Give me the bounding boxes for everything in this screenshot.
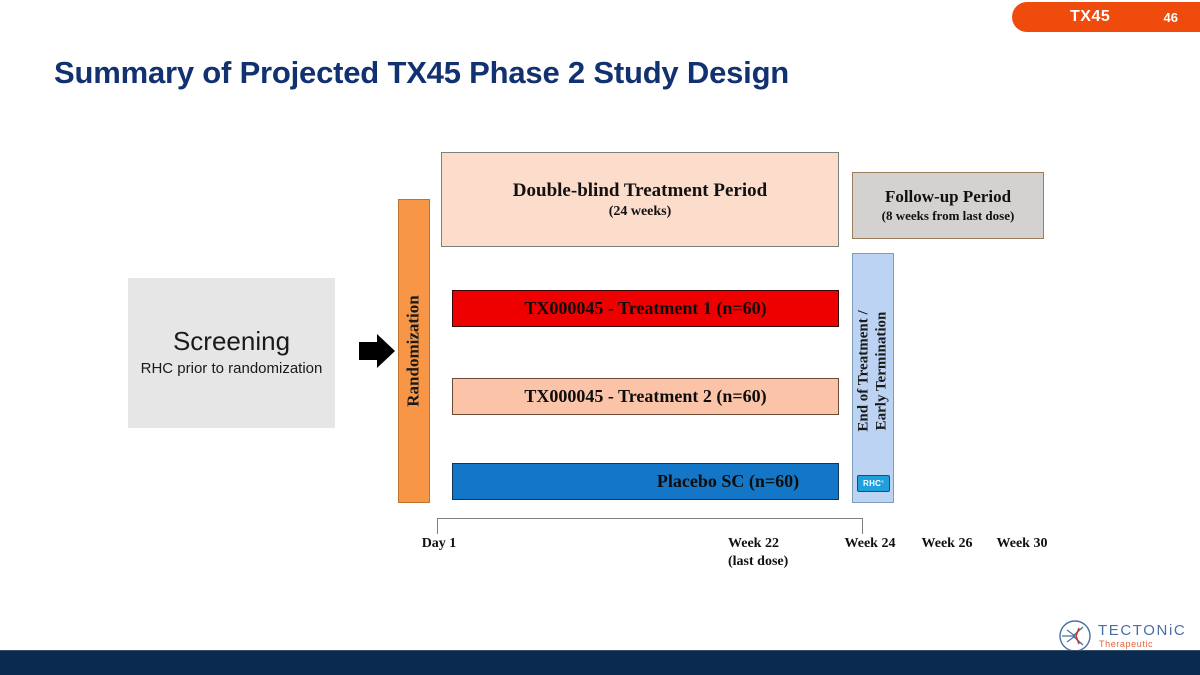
- screening-box: Screening RHC prior to randomization: [128, 278, 335, 428]
- end-of-treatment-line2: Early Termination: [873, 311, 889, 430]
- end-of-treatment-column: End of Treatment / Early Termination RHC…: [852, 253, 894, 503]
- randomization-label: Randomization: [404, 295, 424, 406]
- header-badge-label: TX45: [1070, 8, 1110, 26]
- timeline-label-week-30-text: Week 30: [997, 536, 1048, 551]
- tectonic-logo-icon: [1058, 619, 1092, 653]
- timeline-label-day-1-text: Day 1: [422, 536, 457, 551]
- logo-company-name: TECTONiC: [1098, 623, 1186, 638]
- randomization-bar: Randomization: [398, 199, 430, 503]
- timeline-label-day-1: Day 1: [404, 536, 474, 552]
- bracket-right-tick: [862, 518, 863, 534]
- slide-page-number: 46: [1164, 10, 1178, 25]
- treatment-arm-1-bar: TX000045 - Treatment 1 (n=60): [452, 290, 839, 327]
- logo-tagline: Therapeutic: [1099, 640, 1186, 649]
- footer-bar: [0, 651, 1200, 675]
- header-badge: TX45 46: [1012, 2, 1200, 32]
- bracket-left-tick: [437, 518, 438, 534]
- right-arrow-icon: [359, 334, 395, 368]
- timeline-label-week-22-sub: (last dose): [728, 554, 876, 570]
- placebo-arm-bar: Placebo SC (n=60): [452, 463, 839, 500]
- logo-text-block: TECTONiC Therapeutic: [1098, 623, 1186, 649]
- timeline-label-week-22-text: Week 22: [728, 536, 779, 551]
- page-title: Summary of Projected TX45 Phase 2 Study …: [54, 55, 789, 91]
- treatment-arm-2-bar: TX000045 - Treatment 2 (n=60): [452, 378, 839, 415]
- treatment-arm-1-label: TX000045 - Treatment 1 (n=60): [524, 298, 766, 319]
- followup-period-duration: (8 weeks from last dose): [882, 208, 1015, 224]
- treatment-period-title: Double-blind Treatment Period: [513, 180, 767, 202]
- followup-period-box: Follow-up Period (8 weeks from last dose…: [852, 172, 1044, 239]
- treatment-arm-2-label: TX000045 - Treatment 2 (n=60): [524, 386, 766, 407]
- bracket-top-line: [437, 518, 863, 519]
- timeline-label-week-26: Week 26: [907, 536, 987, 552]
- slide-canvas: TX45 46 Summary of Projected TX45 Phase …: [0, 0, 1200, 675]
- timeline-label-week-24: Week 24: [830, 536, 910, 552]
- timeline-label-week-24-text: Week 24: [845, 536, 896, 551]
- placebo-arm-label: Placebo SC (n=60): [657, 471, 799, 492]
- end-of-treatment-line1: End of Treatment /: [855, 310, 871, 431]
- rhc-badge: RHC°: [857, 475, 890, 492]
- treatment-period-duration: (24 weeks): [609, 204, 672, 220]
- screening-title: Screening: [173, 328, 290, 355]
- rhc-badge-superscript: °: [881, 481, 884, 487]
- company-logo: TECTONiC Therapeutic: [1058, 618, 1188, 654]
- timeline-label-week-30: Week 30: [982, 536, 1062, 552]
- followup-period-title: Follow-up Period: [885, 187, 1011, 207]
- screening-subtitle: RHC prior to randomization: [141, 359, 323, 378]
- timeline-label-week-26-text: Week 26: [922, 536, 973, 551]
- arrow-head: [377, 334, 395, 368]
- double-blind-treatment-period-box: Double-blind Treatment Period (24 weeks): [441, 152, 839, 247]
- arrow-shaft: [359, 342, 379, 360]
- timeline-bracket: [437, 518, 863, 534]
- rhc-badge-label: RHC: [863, 479, 881, 488]
- end-of-treatment-label: End of Treatment / Early Termination: [855, 310, 890, 431]
